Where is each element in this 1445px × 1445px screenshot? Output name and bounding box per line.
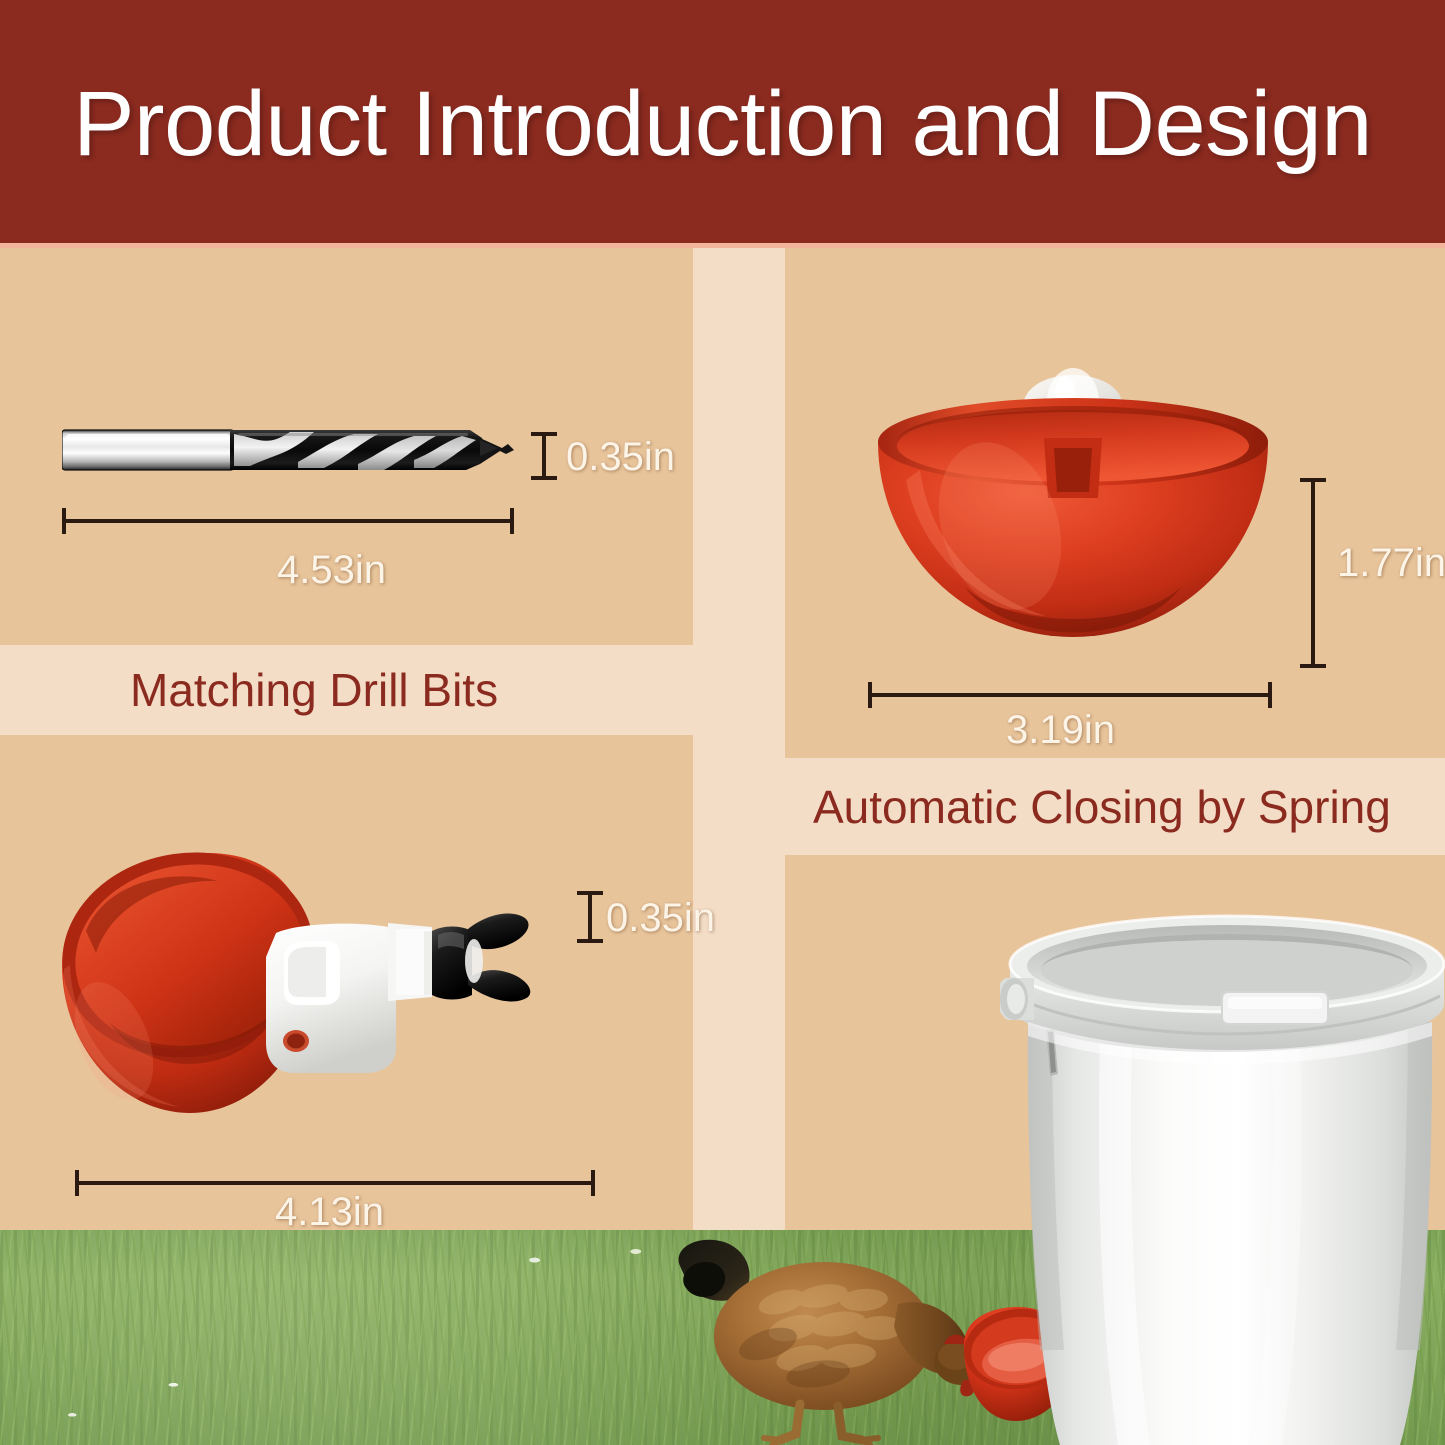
dimension-line-thread-diameter bbox=[588, 891, 592, 943]
dimension-label-cup-length: 4.13in bbox=[275, 1190, 384, 1235]
label-band-automatic-closing: Automatic Closing by Spring bbox=[785, 758, 1445, 855]
dimension-label-drill-diameter: 0.35in bbox=[566, 435, 675, 480]
header-banner: Product Introduction and Design bbox=[0, 0, 1445, 243]
dimension-label-cup-width: 3.19in bbox=[1006, 708, 1115, 753]
water-cup-icon-front bbox=[868, 330, 1278, 660]
dimension-line-drill-diameter bbox=[542, 432, 546, 480]
drill-bit-icon bbox=[62, 424, 515, 476]
label-matching-drill-bits: Matching Drill Bits bbox=[0, 663, 498, 717]
water-cup-icon-angled bbox=[40, 845, 600, 1145]
dimension-label-thread-diameter: 0.35in bbox=[606, 896, 715, 941]
dimension-line-drill-length bbox=[62, 519, 514, 523]
bucket-icon bbox=[1000, 900, 1445, 1445]
dimension-label-cup-height: 1.77in bbox=[1337, 541, 1445, 586]
dimension-line-cup-length bbox=[75, 1181, 595, 1185]
dimension-line-cup-width bbox=[868, 693, 1272, 697]
label-band-matching-drill-bits: Matching Drill Bits bbox=[0, 645, 693, 735]
dimension-line-cup-height bbox=[1311, 478, 1315, 668]
product-infographic: Product Introduction and Design bbox=[0, 0, 1445, 1445]
page-title: Product Introduction and Design bbox=[0, 72, 1445, 177]
label-automatic-closing-by-spring: Automatic Closing by Spring bbox=[785, 780, 1391, 834]
dimension-label-drill-length: 4.53in bbox=[277, 548, 386, 593]
